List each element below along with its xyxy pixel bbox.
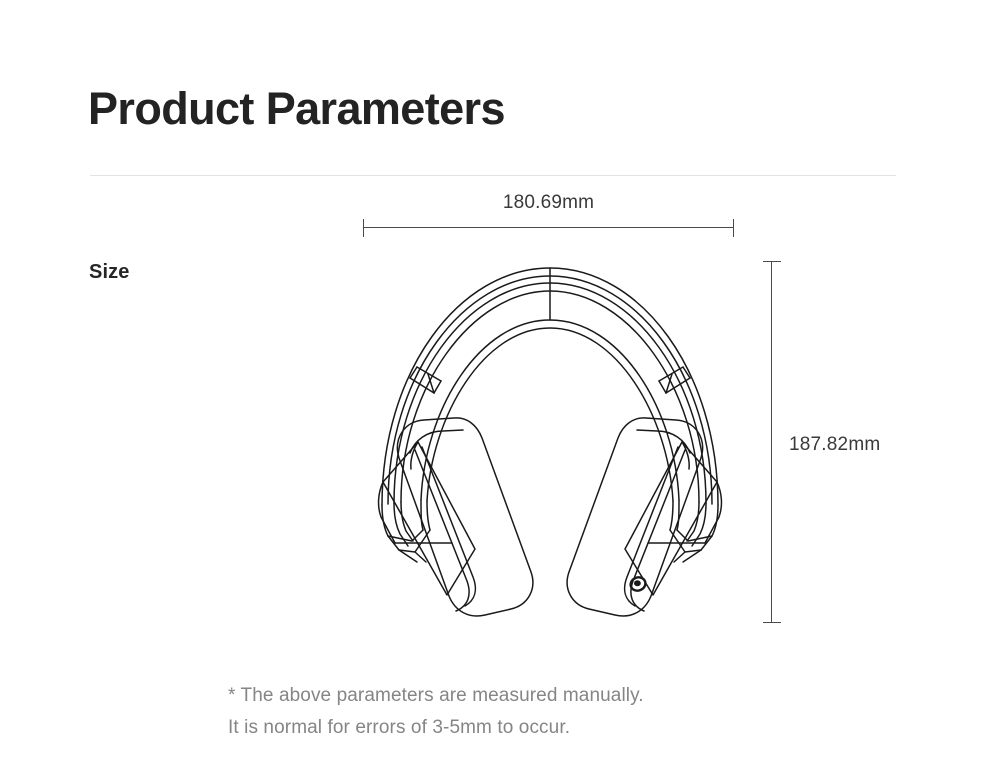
dimension-shaft-vertical — [771, 261, 772, 623]
height-dimension-label: 187.82mm — [789, 434, 880, 456]
spec-row-label-size: Size — [89, 261, 129, 284]
product-parameters-page: Product Parameters Size 180.69mm 187.82m… — [0, 0, 990, 764]
ear-cup-right-back-plate — [625, 442, 721, 595]
ear-cup-left-pad — [397, 418, 532, 616]
footnote-line-2: It is normal for errors of 3-5mm to occu… — [228, 712, 644, 744]
dimension-shaft-horizontal — [363, 227, 734, 228]
ear-cup-right-pad — [567, 418, 702, 616]
dimension-tick-right — [733, 219, 734, 237]
height-dimension-line — [763, 261, 781, 623]
width-dimension-line — [363, 219, 734, 237]
width-dimension-label: 180.69mm — [363, 192, 734, 214]
footnote: * The above parameters are measured manu… — [228, 680, 644, 744]
ear-cup-left-back-plate — [379, 442, 475, 595]
header-divider — [90, 175, 896, 176]
headband-inner-arc — [421, 320, 679, 501]
dimension-tick-bottom — [763, 622, 781, 623]
page-title: Product Parameters — [88, 84, 505, 134]
footnote-line-1: * The above parameters are measured manu… — [228, 680, 644, 712]
headphones-illustration — [355, 250, 745, 645]
